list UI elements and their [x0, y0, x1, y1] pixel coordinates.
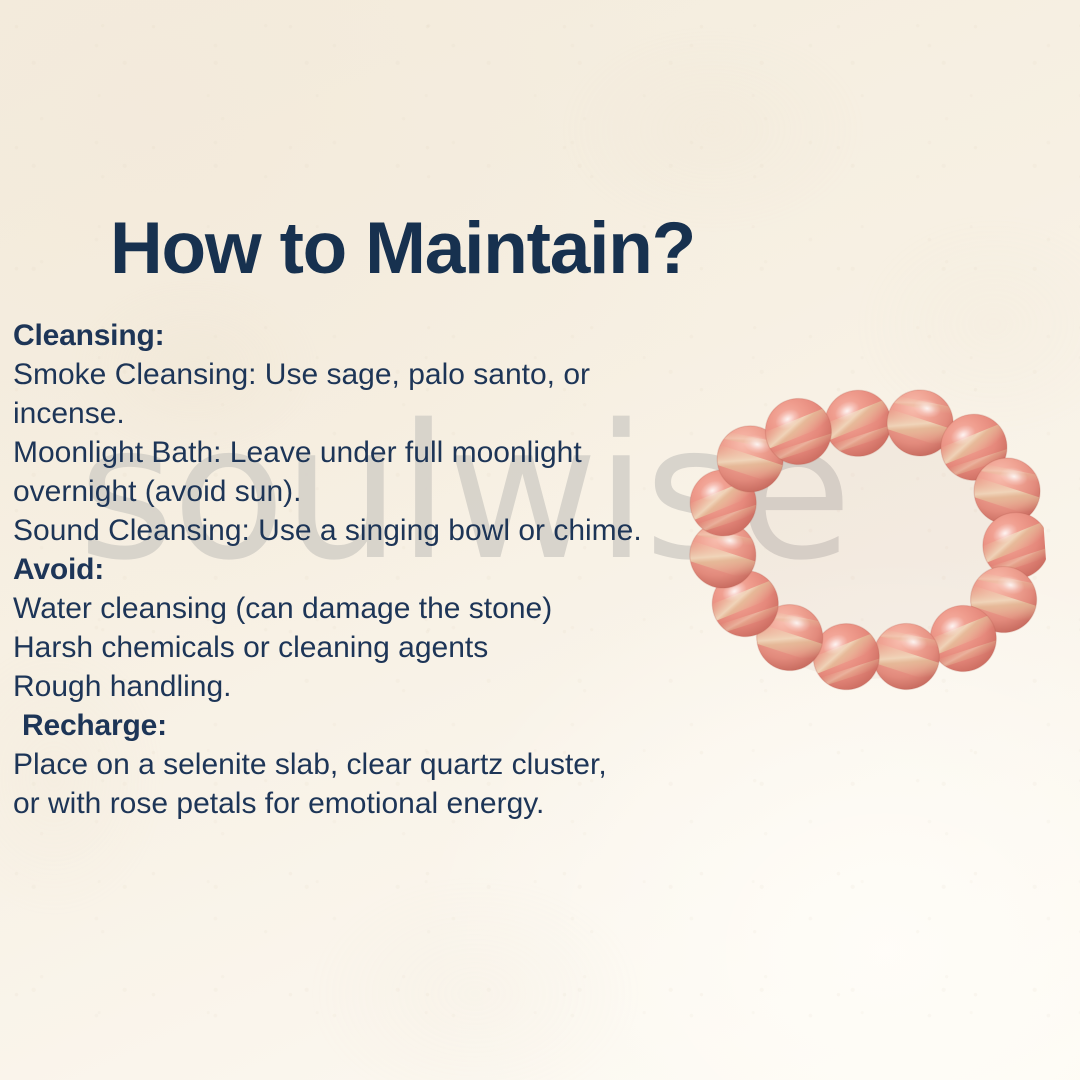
poster-canvas: soulwise How to Maintain? Cleansing: Smo…: [0, 0, 1080, 1080]
avoid-line-2: Harsh chemicals or cleaning agents: [13, 628, 713, 667]
cleansing-line-3: Moonlight Bath: Leave under full moonlig…: [13, 433, 713, 472]
section-heading-avoid: Avoid:: [13, 550, 713, 589]
avoid-line-1: Water cleansing (can damage the stone): [13, 589, 713, 628]
page-title: How to Maintain?: [110, 212, 695, 285]
cleansing-line-5: Sound Cleansing: Use a singing bowl or c…: [13, 511, 713, 550]
cleansing-line-4: overnight (avoid sun).: [13, 472, 713, 511]
recharge-line-2: or with rose petals for emotional energy…: [13, 784, 713, 823]
section-heading-cleansing: Cleansing:: [13, 316, 713, 355]
cleansing-line-2: incense.: [13, 394, 713, 433]
avoid-line-3: Rough handling.: [13, 667, 713, 706]
product-image-bracelet: [678, 371, 1055, 705]
recharge-line-1: Place on a selenite slab, clear quartz c…: [13, 745, 713, 784]
section-heading-recharge: Recharge:: [13, 706, 713, 745]
cleansing-line-1: Smoke Cleansing: Use sage, palo santo, o…: [13, 355, 713, 394]
maintenance-instructions: Cleansing: Smoke Cleansing: Use sage, pa…: [13, 316, 713, 823]
